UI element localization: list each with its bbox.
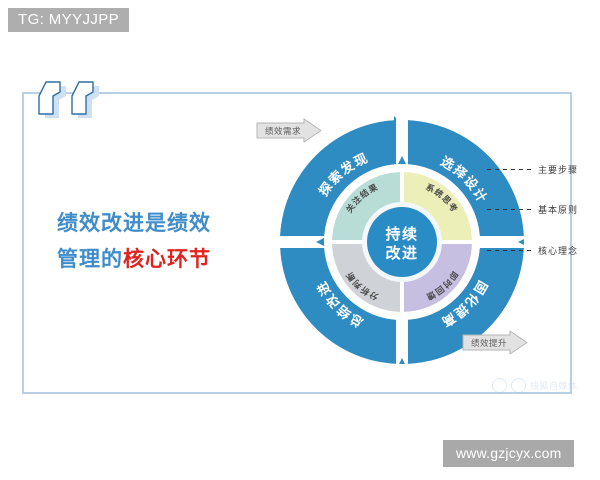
watermark-logo-icon bbox=[511, 378, 526, 393]
headline-accent: 核心环节 bbox=[123, 248, 211, 271]
tg-handle-badge: TG: MYYJJPP bbox=[8, 8, 129, 32]
legend-item-main-steps: 主要步骤 bbox=[487, 162, 578, 176]
callout-performance-uplift: 绩效提升 bbox=[462, 330, 528, 355]
center-label-line-1: 持续 bbox=[385, 225, 418, 243]
headline-line-2: 管理的核心环节 bbox=[57, 242, 287, 278]
site-url-badge: www.gzjcyx.com bbox=[443, 440, 574, 467]
legend-leader-line bbox=[487, 250, 531, 251]
legend-label-core-concept: 核心理念 bbox=[538, 244, 578, 257]
headline-line-1: 绩效改进是绩效 bbox=[57, 206, 287, 242]
watermark-label: 搜狐自媒体 bbox=[530, 379, 578, 392]
callout-demand-label: 绩效需求 bbox=[256, 118, 322, 143]
source-watermark: 搜狐自媒体 bbox=[492, 374, 588, 396]
watermark-logo-icon bbox=[492, 378, 507, 393]
quote-mark-icon bbox=[38, 76, 112, 124]
callout-performance-demand: 绩效需求 bbox=[256, 118, 322, 143]
page-headline: 绩效改进是绩效 管理的核心环节 bbox=[57, 206, 287, 278]
legend-leader-line bbox=[487, 209, 531, 210]
legend-item-core-concept: 核心理念 bbox=[487, 243, 578, 257]
legend-label-basic-principles: 基本原则 bbox=[538, 203, 578, 216]
slide-canvas: TG: MYYJJPP 绩效改进是绩效 管理的核心环节 bbox=[0, 0, 600, 480]
legend-item-basic-principles: 基本原则 bbox=[487, 202, 578, 216]
legend-leader-line bbox=[487, 169, 531, 170]
callout-uplift-label: 绩效提升 bbox=[462, 330, 528, 355]
legend-label-main-steps: 主要步骤 bbox=[538, 163, 578, 176]
headline-prefix: 管理的 bbox=[57, 248, 123, 271]
center-label-line-2: 改进 bbox=[385, 244, 418, 262]
